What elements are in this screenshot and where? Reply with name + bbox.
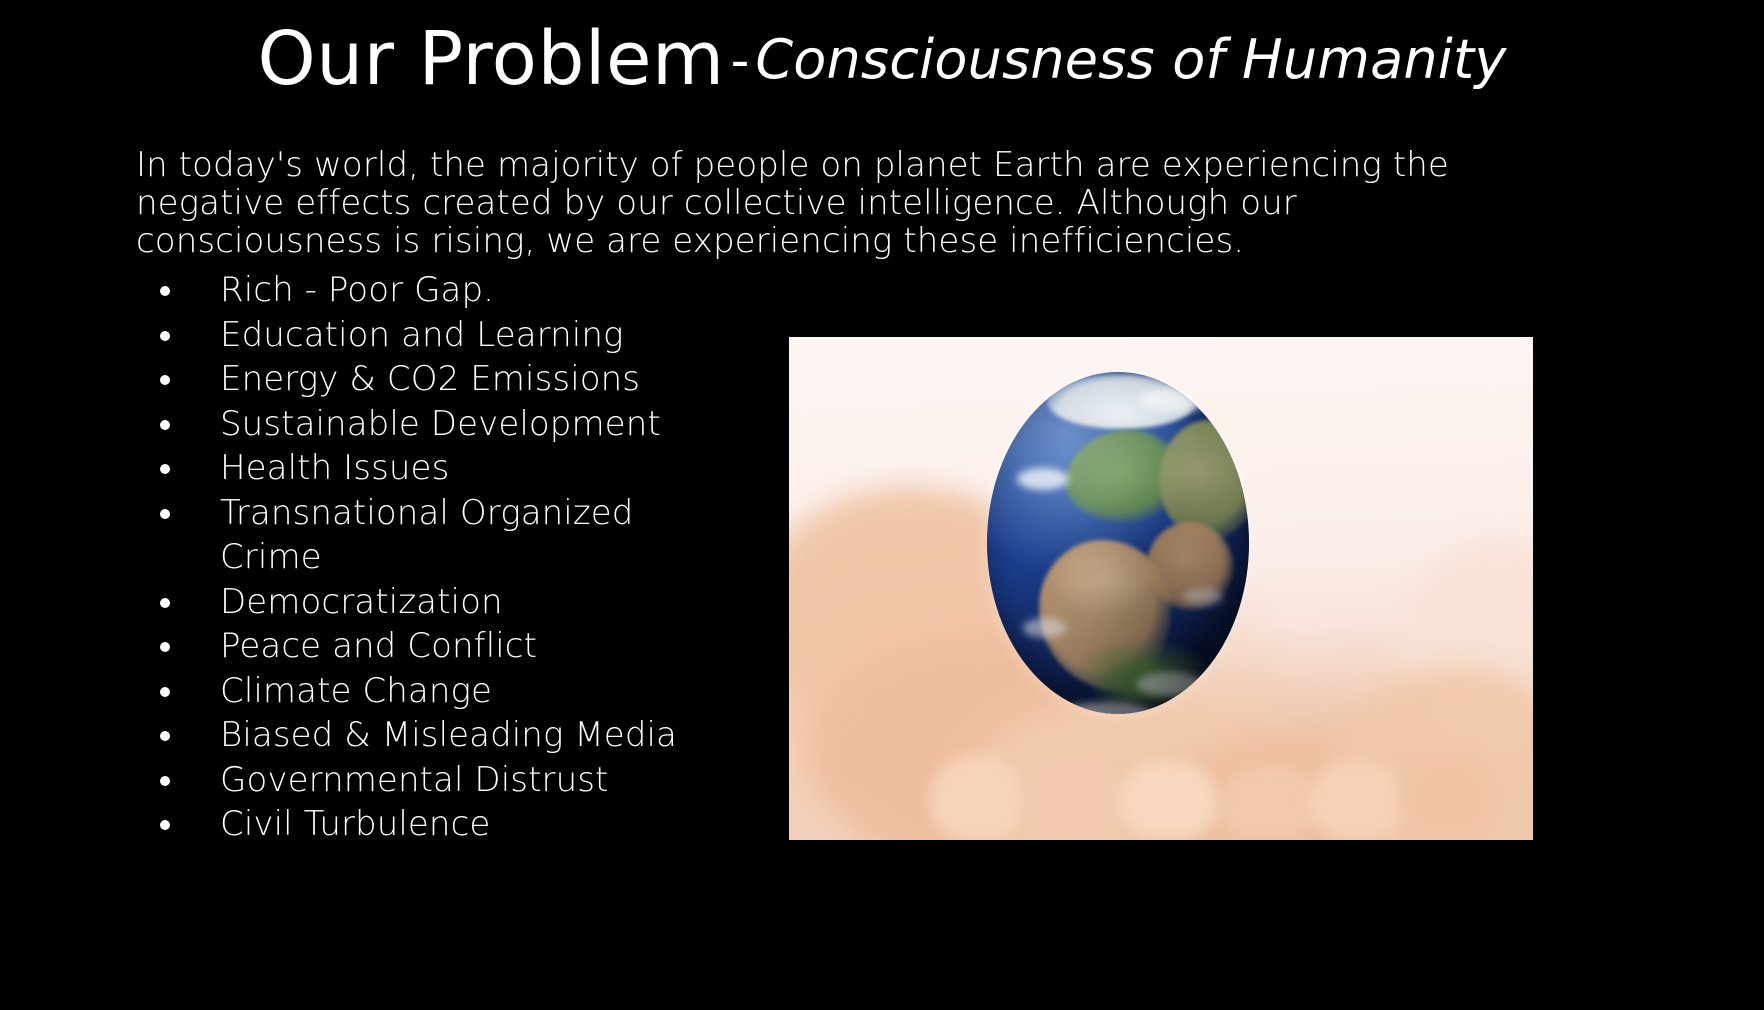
bullet-dot-icon [160,509,170,519]
bullet-dot-icon [160,642,170,652]
finger-shape [1309,762,1404,840]
title-main-text: Our Problem [257,16,724,102]
bullet-dot-icon [160,731,170,741]
list-item: Health Issues [150,446,710,491]
list-item: Rich - Poor Gap. [150,268,710,313]
list-item-label: Energy & CO2 Emissions [220,359,640,399]
intro-paragraph: In today's world, the majority of people… [136,146,1436,260]
title-subtitle-text: Consciousness of Humanity [755,28,1506,91]
bullet-dot-icon [160,286,170,296]
list-item: Civil Turbulence [150,802,710,847]
finger-shape [1027,755,1122,840]
list-item-label: Governmental Distrust [220,760,608,800]
list-item-label: Civil Turbulence [220,804,490,844]
slide-canvas: Our Problem-Consciousness of Humanity In… [0,0,1764,1010]
bullet-dot-icon [160,420,170,430]
list-item: Energy & CO2 Emissions [150,357,710,402]
list-item-label: Democratization [220,582,503,622]
problem-bullet-list: Rich - Poor Gap. Education and Learning … [150,268,710,847]
intro-line-3: consciousness is rising, we are experien… [136,222,1436,260]
bullet-dot-icon [160,776,170,786]
title-separator: - [725,31,756,91]
bullet-dot-icon [160,820,170,830]
list-item: Democratization [150,580,710,625]
list-item: Climate Change [150,669,710,714]
intro-line-2: negative effects created by our collecti… [136,184,1436,222]
list-item-label: Education and Learning [220,315,623,355]
list-item: Peace and Conflict [150,624,710,669]
list-item-label: Sustainable Development [220,404,661,444]
list-item: Biased & Misleading Media [150,713,710,758]
bullet-dot-icon [160,687,170,697]
earth-globe-icon [987,372,1249,714]
finger-shape [1401,755,1496,840]
list-item: Education and Learning [150,313,710,358]
globe-highlight-overlay [987,372,1249,714]
list-item-label: Health Issues [220,448,449,488]
bullet-dot-icon [160,331,170,341]
list-item: Sustainable Development [150,402,710,447]
list-item-label: Rich - Poor Gap. [220,270,494,310]
list-item-label: Peace and Conflict [220,626,537,666]
finger-shape [1119,762,1219,840]
slide-title: Our Problem-Consciousness of Humanity [0,22,1764,97]
list-item-label: Climate Change [220,671,492,711]
finger-shape [1219,767,1319,840]
earth-in-hands-photo [789,337,1533,840]
intro-line-1: In today's world, the majority of people… [136,146,1436,184]
finger-shape [929,757,1024,840]
list-item-label: Transnational Organized Crime [220,493,633,578]
bullet-dot-icon [160,375,170,385]
list-item-label: Biased & Misleading Media [220,715,677,755]
list-item: Transnational Organized Crime [150,491,710,580]
bullet-dot-icon [160,598,170,608]
list-item: Governmental Distrust [150,758,710,803]
bullet-dot-icon [160,464,170,474]
